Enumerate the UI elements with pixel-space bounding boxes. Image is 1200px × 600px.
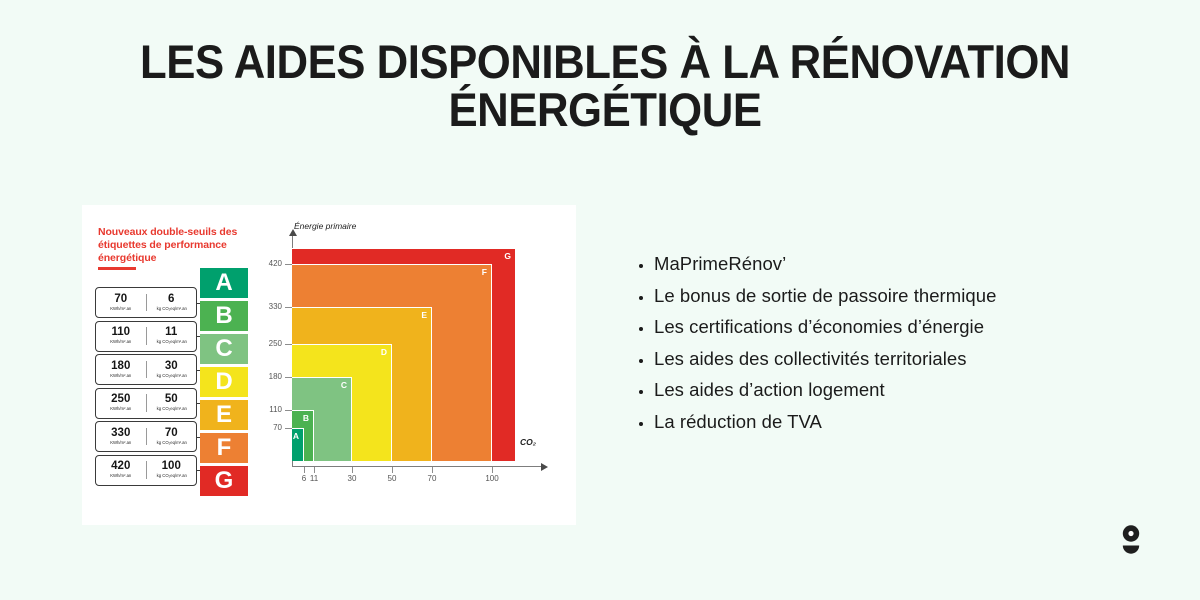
threshold-energy-value: 180 — [96, 361, 146, 373]
list-item: Les certifications d’économies d’énergie — [654, 311, 1174, 343]
chart-step-label: G — [504, 252, 511, 261]
list-item: La réduction de TVA — [654, 406, 1174, 438]
chart-y-tick-mark — [285, 377, 292, 378]
threshold-co2-cell: 70 kg CO₂eq/m².an — [147, 428, 197, 445]
threshold-table: 70 KWh/m².an 6 kg CO₂eq/m².an 110 KWh/m²… — [95, 287, 197, 488]
threshold-energy-cell: 110 KWh/m².an — [96, 327, 147, 344]
energy-class-badge-f: F — [200, 433, 248, 463]
infographic-heading: Nouveaux double-seuils des étiquettes de… — [98, 226, 248, 265]
threshold-co2-unit: kg CO₂eq/m².an — [147, 307, 196, 311]
chart-y-tick-mark — [285, 344, 292, 345]
threshold-energy-unit: KWh/m².an — [96, 441, 145, 445]
dpe-step-chart: Énergie primaire CO₂ GFEDCBA 70110180250… — [252, 219, 564, 515]
chart-step-label: A — [293, 432, 299, 441]
table-row: 250 KWh/m².an 50 kg CO₂eq/m².an — [95, 388, 197, 419]
dpe-infographic-card: Nouveaux double-seuils des étiquettes de… — [82, 205, 576, 525]
table-row: 70 KWh/m².an 6 kg CO₂eq/m².an — [95, 287, 197, 318]
energy-class-badge-e: E — [200, 400, 248, 430]
threshold-energy-cell: 330 KWh/m².an — [96, 428, 147, 445]
chart-y-tick-mark — [285, 307, 292, 308]
chart-plot-area: GFEDCBA — [292, 241, 542, 461]
energy-class-badge-a: A — [200, 268, 248, 298]
threshold-co2-cell: 11 kg CO₂eq/m².an — [147, 327, 197, 344]
list-item: Les aides d’action logement — [654, 374, 1174, 406]
energy-class-badges: ABCDEFG — [200, 268, 248, 499]
threshold-co2-unit: kg CO₂eq/m².an — [147, 441, 196, 445]
threshold-energy-value: 110 — [96, 327, 146, 339]
chart-y-tick-mark — [285, 428, 292, 429]
energy-class-badge-g: G — [200, 466, 248, 496]
threshold-energy-value: 250 — [96, 394, 146, 406]
threshold-energy-cell: 250 KWh/m².an — [96, 394, 147, 411]
energy-class-badge-d: D — [200, 367, 248, 397]
chart-x-tick-mark — [304, 467, 305, 473]
chart-step-label: E — [421, 311, 427, 320]
list-item: MaPrimeRénov’ — [654, 248, 1174, 280]
chart-y-axis-arrow-icon — [289, 229, 297, 236]
chart-y-tick-mark — [285, 410, 292, 411]
chart-step-label: D — [381, 348, 387, 357]
chart-y-axis-label: Énergie primaire — [294, 221, 356, 231]
threshold-energy-value: 330 — [96, 428, 146, 440]
energy-class-badge-c: C — [200, 334, 248, 364]
threshold-co2-value: 30 — [147, 361, 197, 373]
chart-x-tick-mark — [392, 467, 393, 473]
chart-step-label: F — [482, 268, 487, 277]
table-row: 180 KWh/m².an 30 kg CO₂eq/m².an — [95, 354, 197, 385]
threshold-energy-unit: KWh/m².an — [96, 340, 145, 344]
chart-step-label: B — [303, 414, 309, 423]
chart-x-tick-label: 100 — [480, 475, 504, 483]
chart-x-tick-mark — [352, 467, 353, 473]
table-row: 330 KWh/m².an 70 kg CO₂eq/m².an — [95, 421, 197, 452]
threshold-co2-unit: kg CO₂eq/m².an — [147, 374, 196, 378]
chart-x-axis-arrow-icon — [541, 463, 548, 471]
chart-y-tick-label: 110 — [256, 406, 282, 414]
threshold-co2-value: 50 — [147, 394, 197, 406]
threshold-energy-unit: KWh/m².an — [96, 474, 145, 478]
chart-x-tick-mark — [492, 467, 493, 473]
threshold-energy-cell: 180 KWh/m².an — [96, 361, 147, 378]
chart-x-tick-label: 30 — [340, 475, 364, 483]
threshold-energy-value: 70 — [96, 294, 146, 306]
threshold-co2-unit: kg CO₂eq/m².an — [147, 474, 196, 478]
threshold-energy-cell: 70 KWh/m².an — [96, 294, 147, 311]
accent-rule — [98, 267, 136, 270]
threshold-co2-value: 6 — [147, 294, 197, 306]
chart-y-tick-label: 180 — [256, 373, 282, 381]
threshold-energy-unit: KWh/m².an — [96, 307, 145, 311]
table-row: 420 KWh/m².an 100 kg CO₂eq/m².an — [95, 455, 197, 486]
threshold-energy-unit: KWh/m².an — [96, 374, 145, 378]
chart-x-tick-mark — [432, 467, 433, 473]
chart-x-tick-mark — [314, 467, 315, 473]
chart-x-axis-line — [292, 466, 542, 467]
threshold-energy-value: 420 — [96, 461, 146, 473]
chart-x-tick-label: 11 — [302, 475, 326, 483]
threshold-co2-unit: kg CO₂eq/m².an — [147, 407, 196, 411]
threshold-co2-cell: 50 kg CO₂eq/m².an — [147, 394, 197, 411]
chart-step-a: A — [292, 428, 304, 461]
chart-x-tick-label: 50 — [380, 475, 404, 483]
aids-list: MaPrimeRénov’Le bonus de sortie de passo… — [632, 248, 1174, 437]
threshold-co2-value: 70 — [147, 428, 197, 440]
threshold-co2-value: 100 — [147, 461, 197, 473]
list-item: Le bonus de sortie de passoire thermique — [654, 280, 1174, 312]
threshold-co2-cell: 30 kg CO₂eq/m².an — [147, 361, 197, 378]
threshold-co2-cell: 100 kg CO₂eq/m².an — [147, 461, 197, 478]
chart-y-tick-mark — [285, 264, 292, 265]
chart-y-tick-label: 250 — [256, 340, 282, 348]
brand-logo — [1118, 524, 1144, 554]
threshold-co2-value: 11 — [147, 327, 197, 339]
list-item: Les aides des collectivités territoriale… — [654, 343, 1174, 375]
threshold-co2-cell: 6 kg CO₂eq/m².an — [147, 294, 197, 311]
page-title: LES AIDES DISPONIBLES À LA RÉNOVATION ÉN… — [98, 38, 1112, 134]
chart-x-tick-label: 70 — [420, 475, 444, 483]
threshold-co2-unit: kg CO₂eq/m².an — [147, 340, 196, 344]
threshold-energy-cell: 420 KWh/m².an — [96, 461, 147, 478]
chart-y-tick-label: 420 — [256, 260, 282, 268]
chart-y-tick-label: 330 — [256, 303, 282, 311]
chart-y-tick-label: 70 — [256, 424, 282, 432]
chart-step-label: C — [341, 381, 347, 390]
table-row: 110 KWh/m².an 11 kg CO₂eq/m².an — [95, 321, 197, 352]
threshold-energy-unit: KWh/m².an — [96, 407, 145, 411]
energy-class-badge-b: B — [200, 301, 248, 331]
